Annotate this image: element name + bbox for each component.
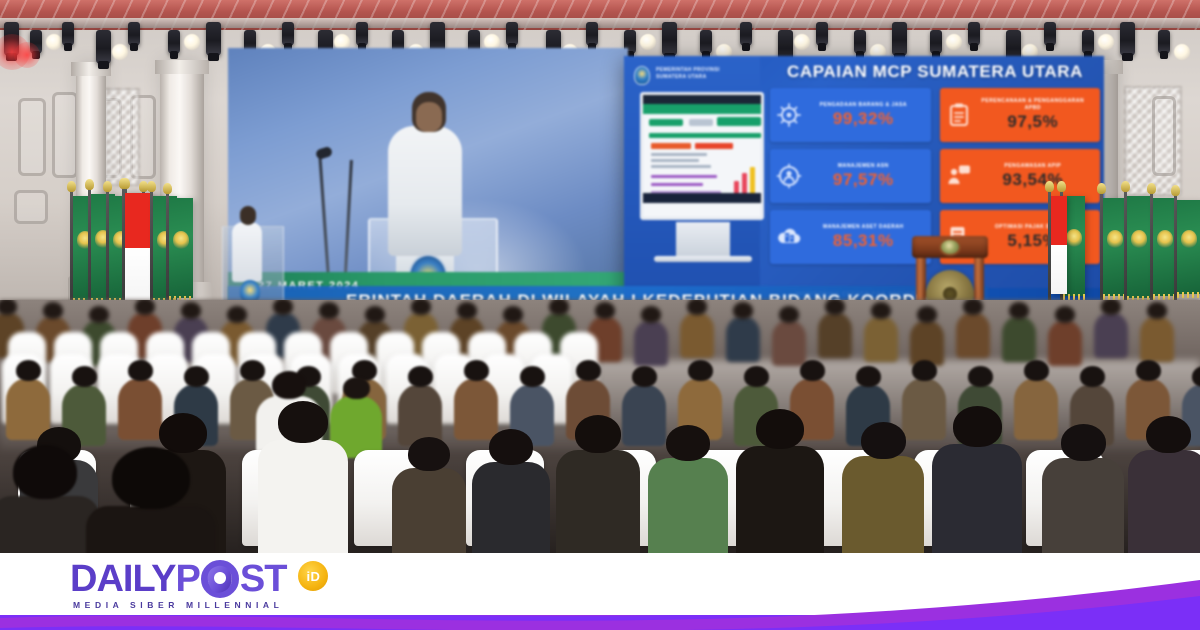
- audience-person: [454, 378, 498, 440]
- mcp-card-value: 97,57%: [804, 171, 923, 190]
- screen-microphone-head: [315, 146, 333, 160]
- audience-person-head: [43, 302, 63, 319]
- audience-person: [902, 378, 946, 440]
- mcp-card-label: PENGADAAN BARANG & JASA: [804, 102, 923, 109]
- stage-light-bulb: [1174, 44, 1190, 60]
- flag-finial: [147, 181, 156, 192]
- audience-person: [1140, 316, 1174, 362]
- audience-person: [622, 384, 666, 446]
- logo-dot: [214, 572, 226, 584]
- province-line-1: PEMERINTAH PROVINSI: [656, 67, 752, 74]
- logo-id-badge: iD: [298, 561, 328, 591]
- audience-person: [736, 446, 824, 560]
- audience-person: [118, 378, 162, 440]
- audience-person-head: [128, 360, 153, 381]
- audience-person: [1014, 378, 1058, 440]
- audience-person-head: [227, 306, 247, 323]
- mcp-card-label: MANAJEMEN ASN: [804, 163, 923, 170]
- stage-light-fixture: [662, 22, 677, 56]
- flag-emblem: [1181, 230, 1197, 248]
- audience-person-head: [688, 360, 713, 381]
- stage-light-fixture: [1158, 30, 1170, 54]
- audience-person-head: [181, 302, 201, 319]
- audience-person: [932, 444, 1022, 560]
- logo-text-block: DAILYPST MEDIA SIBER MILLENNIAL: [70, 560, 286, 598]
- audience-person-head: [912, 360, 937, 381]
- slide-left-panel: PEMERINTAH PROVINSI SUMATERA UTARA: [624, 56, 760, 318]
- indonesia-flag: [125, 193, 151, 303]
- stage-light-fixture: [168, 30, 180, 54]
- wall-lace-panel: [102, 88, 140, 186]
- monitor-row: [651, 165, 711, 168]
- stage-light-fixture: [1120, 22, 1135, 56]
- mcp-card-label: MANAJEMEN ASET DAERAH: [804, 224, 923, 231]
- cloud-building-icon: [774, 222, 804, 252]
- wall-ornament: [18, 98, 46, 176]
- province-flag: [1127, 196, 1151, 298]
- audience-person: [1128, 450, 1200, 560]
- monitor-bar: [742, 173, 747, 195]
- audience-person: [956, 312, 990, 358]
- audience-person-head: [963, 300, 983, 315]
- slide-title: CAPAIAN MCP SUMATERA UTARA: [770, 62, 1100, 82]
- audience-person-head: [184, 366, 209, 387]
- stage-speaker-head: [240, 206, 256, 225]
- mcp-card-value: 97,5%: [974, 113, 1093, 132]
- audience-person-head: [464, 360, 489, 381]
- mcp-card-body: MANAJEMEN ASET DAERAH85,31%: [804, 224, 925, 251]
- audience-person-head: [549, 300, 569, 315]
- stage-light-fixture: [816, 22, 828, 46]
- audience-person: [86, 506, 216, 560]
- flag-finial: [103, 181, 112, 192]
- gear-chip-icon: [774, 100, 804, 130]
- stage-light-fixture: [96, 30, 111, 64]
- audience-person-head: [365, 306, 385, 323]
- flag-finial: [163, 183, 172, 194]
- audience-person-head: [953, 406, 1002, 447]
- flag-finial: [1057, 181, 1066, 192]
- stage-light-bulb: [640, 34, 656, 50]
- flag-finial: [1045, 181, 1054, 192]
- monitor-topbar: [643, 95, 761, 104]
- audience-person-head: [72, 366, 97, 387]
- audience-person: [842, 456, 924, 560]
- stage-light-fixture: [1082, 30, 1094, 54]
- audience-person-head: [273, 300, 293, 315]
- monitor-row: [651, 175, 717, 178]
- logo-part-st: ST: [240, 560, 287, 598]
- stage-light-fixture: [586, 22, 598, 46]
- monitor-row: [651, 143, 691, 149]
- people-chat-icon: [944, 161, 974, 191]
- logo-swirl-o-icon: [201, 560, 239, 598]
- logo-part-daily: DAILY: [70, 560, 176, 598]
- mcp-card: MANAJEMEN ASN97,57%: [770, 149, 931, 203]
- monitor-row: [649, 133, 761, 138]
- wall-ornament: [1152, 96, 1176, 176]
- province-emblem-icon: [634, 66, 650, 85]
- flag-finial: [1171, 185, 1180, 196]
- audience-person-head: [733, 302, 753, 319]
- audience-area: [0, 300, 1200, 560]
- stage-light-bulb: [46, 34, 62, 50]
- clipboard-icon: [944, 100, 974, 130]
- audience-person-head: [744, 366, 769, 387]
- screenshot-root: 27 MARET 2024 PEMERINTAH PROVINSI SUMATE…: [0, 0, 1200, 630]
- audience-person-head: [1055, 306, 1075, 323]
- screen-speaker-body: [388, 126, 462, 256]
- audience-person-head: [861, 422, 906, 459]
- audience-person-head: [159, 413, 207, 453]
- audience-person-head: [1061, 424, 1106, 461]
- mcp-card-body: PERENCANAAN & PENGANGGARAN APBD97,5%: [974, 98, 1095, 132]
- audience-person-head: [1101, 300, 1121, 315]
- monitor-bar-chart: [734, 165, 755, 195]
- audience-person-head: [457, 302, 477, 319]
- stage-speaker: [232, 222, 262, 282]
- audience-person-head: [666, 425, 710, 461]
- audience-person: [1094, 312, 1128, 358]
- flag-finial: [119, 178, 128, 189]
- monitor-chip: [689, 119, 713, 126]
- flag-finial: [1121, 181, 1130, 192]
- audience-person: [556, 450, 640, 560]
- stage-light-fixture: [128, 22, 140, 46]
- stage-light-fixture: [892, 22, 907, 56]
- monitor-row: [651, 153, 707, 156]
- audience-person: [398, 384, 442, 446]
- gong-ornament: [939, 238, 961, 256]
- presentation-slide-screen: PEMERINTAH PROVINSI SUMATERA UTARA: [624, 56, 1104, 318]
- audience-person-head: [240, 360, 265, 381]
- audience-person: [258, 440, 348, 560]
- stage-light-fixture: [700, 30, 712, 54]
- monitor-chip: [717, 117, 761, 126]
- mcp-card-label: PERENCANAAN & PENGANGGARAN APBD: [974, 98, 1093, 113]
- audience-person: [1042, 458, 1124, 560]
- audience-person: [648, 458, 728, 560]
- audience-person-head: [856, 366, 881, 387]
- red-stage-light-glow: [14, 42, 40, 68]
- lighting-truss-secondary: [0, 18, 1200, 28]
- mcp-card: PERENCANAAN & PENGANGGARAN APBD97,5%: [940, 88, 1101, 142]
- monitor-row: [651, 183, 703, 186]
- gear-person-icon: [774, 161, 804, 191]
- province-line-2: SUMATERA UTARA: [656, 74, 752, 81]
- audience-person-head: [1080, 366, 1105, 387]
- monitor-chip: [649, 119, 683, 126]
- stage-light-fixture: [282, 22, 294, 46]
- audience-person: [1048, 320, 1082, 366]
- stage-light-bulb: [1098, 34, 1114, 50]
- mcp-card-body: PENGAWASAN APIP93,54%: [974, 163, 1095, 190]
- stage-light-fixture: [740, 22, 752, 46]
- province-flag: [1177, 200, 1200, 294]
- mcp-card: PENGADAAN BARANG & JASA99,32%: [770, 88, 931, 142]
- audience-person-head: [489, 429, 533, 465]
- mcp-card-body: PENGADAAN BARANG & JASA99,32%: [804, 102, 925, 129]
- stage-light-fixture: [356, 22, 368, 46]
- audience-person: [864, 316, 898, 362]
- stage-light-fixture: [506, 22, 518, 46]
- logo-part-p: P: [176, 560, 200, 598]
- monitor-base: [654, 256, 752, 262]
- flag-emblem: [1066, 229, 1082, 247]
- audience-person-head: [408, 366, 433, 387]
- audience-person-head: [825, 300, 845, 315]
- audience-person: [818, 312, 852, 358]
- audience-person-head: [917, 306, 937, 323]
- audience-person-head: [13, 445, 77, 499]
- logo-wordmark: DAILYPST: [70, 560, 286, 598]
- audience-person: [634, 320, 668, 366]
- mcp-card-value: 85,31%: [804, 232, 923, 251]
- audience-person: [726, 316, 760, 362]
- flag-finial: [1097, 183, 1106, 194]
- audience-person: [1002, 316, 1036, 362]
- audience-person-head: [343, 377, 370, 399]
- flag-emblem: [1107, 230, 1123, 248]
- flag-finial: [67, 181, 76, 192]
- audience-person: [392, 468, 466, 560]
- flag-emblem: [173, 231, 189, 249]
- audience-person-head: [1009, 302, 1029, 319]
- flag-fringe: [1177, 292, 1200, 298]
- monitor-green-bar: [643, 104, 761, 114]
- indonesia-flag: [1051, 196, 1067, 294]
- wall-ornament: [52, 92, 78, 178]
- audience-person-head: [1024, 360, 1049, 381]
- monitor-row: [651, 159, 699, 162]
- audience-person-head: [16, 360, 41, 381]
- audience-person-head: [1147, 302, 1167, 319]
- monitor-bottom-bar: [643, 193, 761, 203]
- mcp-card-value: 99,32%: [804, 110, 923, 129]
- audience-person-head: [968, 366, 993, 387]
- flag-finial: [85, 179, 94, 190]
- province-name: PEMERINTAH PROVINSI SUMATERA UTARA: [656, 67, 752, 82]
- stage-light-bulb: [112, 44, 128, 60]
- audience-person-head: [278, 401, 328, 443]
- stage-light-fixture: [1044, 22, 1056, 46]
- stage-light-fixture: [62, 22, 74, 46]
- mcp-card: PENGAWASAN APIP93,54%: [940, 149, 1101, 203]
- audience-person-head: [272, 371, 306, 399]
- stage-light-fixture: [968, 22, 980, 46]
- audience-person-head: [779, 306, 799, 323]
- left-led-screen: 27 MARET 2024: [228, 48, 628, 316]
- audience-person: [772, 320, 806, 366]
- mcp-card-body: MANAJEMEN ASN97,57%: [804, 163, 925, 190]
- audience-person-head: [112, 447, 190, 509]
- audience-person-head: [756, 409, 804, 449]
- stage-light-bulb: [946, 34, 962, 50]
- audience-person-head: [687, 300, 707, 315]
- audience-person-head: [319, 302, 339, 319]
- stage-light-fixture: [854, 30, 866, 54]
- audience-person: [680, 312, 714, 358]
- audience-person: [472, 462, 550, 560]
- audience-person-head: [89, 306, 109, 323]
- audience-person-head: [1136, 360, 1161, 381]
- province-flag: [169, 198, 193, 298]
- stage-light-fixture: [930, 30, 942, 54]
- audience-person-head: [503, 306, 523, 323]
- dailypost-logo[interactable]: DAILYPST MEDIA SIBER MILLENNIAL iD: [70, 560, 328, 598]
- wall-ornament: [14, 190, 48, 224]
- screen-speaker-face: [416, 102, 442, 132]
- logo-tagline: MEDIA SIBER MILLENNIAL: [73, 600, 283, 610]
- audience-person-head: [1146, 416, 1191, 453]
- audience-person-head: [520, 366, 545, 387]
- audience-person-head: [576, 360, 601, 381]
- audience-person: [910, 320, 944, 366]
- monitor-stand: [676, 222, 730, 258]
- stage-light-fixture: [206, 22, 221, 56]
- dashboard-monitor: [640, 92, 764, 220]
- stage-light-bulb: [794, 34, 810, 50]
- audience-person-head: [871, 302, 891, 319]
- audience-person-head: [135, 300, 155, 315]
- stage-light-bulb: [184, 34, 200, 50]
- audience-person-head: [641, 306, 661, 323]
- audience-person-head: [595, 302, 615, 319]
- gong-top-beam: [912, 236, 988, 258]
- monitor-bar: [750, 167, 755, 195]
- audience-person-head: [632, 366, 657, 387]
- flag-emblem: [1157, 230, 1173, 248]
- mcp-card: MANAJEMEN ASET DAERAH85,31%: [770, 210, 931, 264]
- audience-person: [0, 496, 100, 560]
- audience-person-head: [411, 300, 431, 315]
- flag-finial: [1147, 183, 1156, 194]
- flag-emblem: [1131, 230, 1147, 248]
- audience-person-head: [800, 360, 825, 381]
- mcp-card-label: PENGAWASAN APIP: [974, 163, 1093, 170]
- audience-person-head: [575, 415, 621, 453]
- mcp-card-value: 93,54%: [974, 171, 1093, 190]
- audience-person-head: [408, 437, 450, 471]
- monitor-row: [695, 143, 733, 149]
